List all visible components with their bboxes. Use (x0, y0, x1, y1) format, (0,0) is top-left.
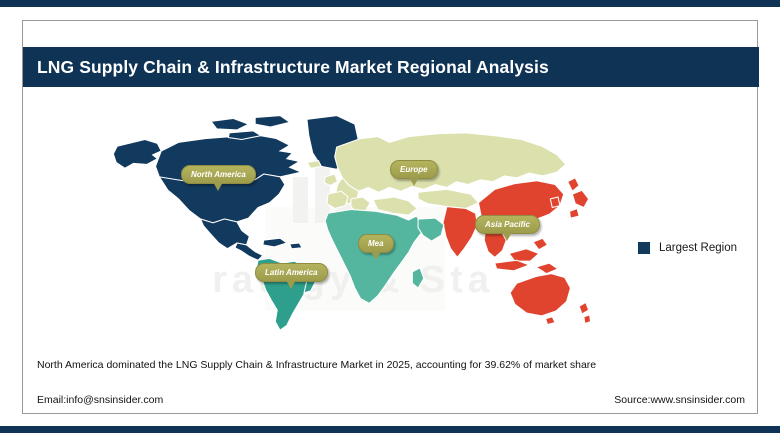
map-label-latin-america-text: Latin America (265, 268, 318, 277)
region-north-america[interactable] (113, 116, 358, 261)
region-mea[interactable] (325, 209, 444, 303)
map-label-europe[interactable]: Europe (390, 160, 438, 179)
map-area: rategy & Sta (23, 87, 759, 342)
infographic-card: LNG Supply Chain & Infrastructure Market… (22, 20, 758, 414)
footnote: North America dominated the LNG Supply C… (37, 359, 737, 371)
page-title: LNG Supply Chain & Infrastructure Market… (23, 57, 549, 78)
map-label-asia-pacific-text: Asia Pacific (485, 220, 530, 229)
map-label-mea[interactable]: Mea (358, 234, 394, 253)
footer-source[interactable]: Source:www.snsinsider.com (614, 394, 745, 406)
map-label-north-america[interactable]: North America (181, 165, 256, 184)
map-label-europe-text: Europe (400, 165, 428, 174)
bottom-accent-bar (0, 426, 780, 433)
legend-label-largest-region: Largest Region (659, 242, 737, 254)
legend: Largest Region (638, 242, 737, 254)
title-band: LNG Supply Chain & Infrastructure Market… (23, 47, 759, 87)
map-label-north-america-text: North America (191, 170, 246, 179)
map-label-latin-america[interactable]: Latin America (255, 263, 328, 282)
footer-email[interactable]: Email:info@snsinsider.com (37, 394, 163, 406)
map-label-mea-text: Mea (368, 239, 384, 248)
map-label-asia-pacific[interactable]: Asia Pacific (475, 215, 540, 234)
legend-swatch-largest-region (638, 242, 650, 254)
footer-row: Email:info@snsinsider.com Source:www.sns… (37, 394, 745, 406)
top-accent-bar (0, 0, 780, 7)
